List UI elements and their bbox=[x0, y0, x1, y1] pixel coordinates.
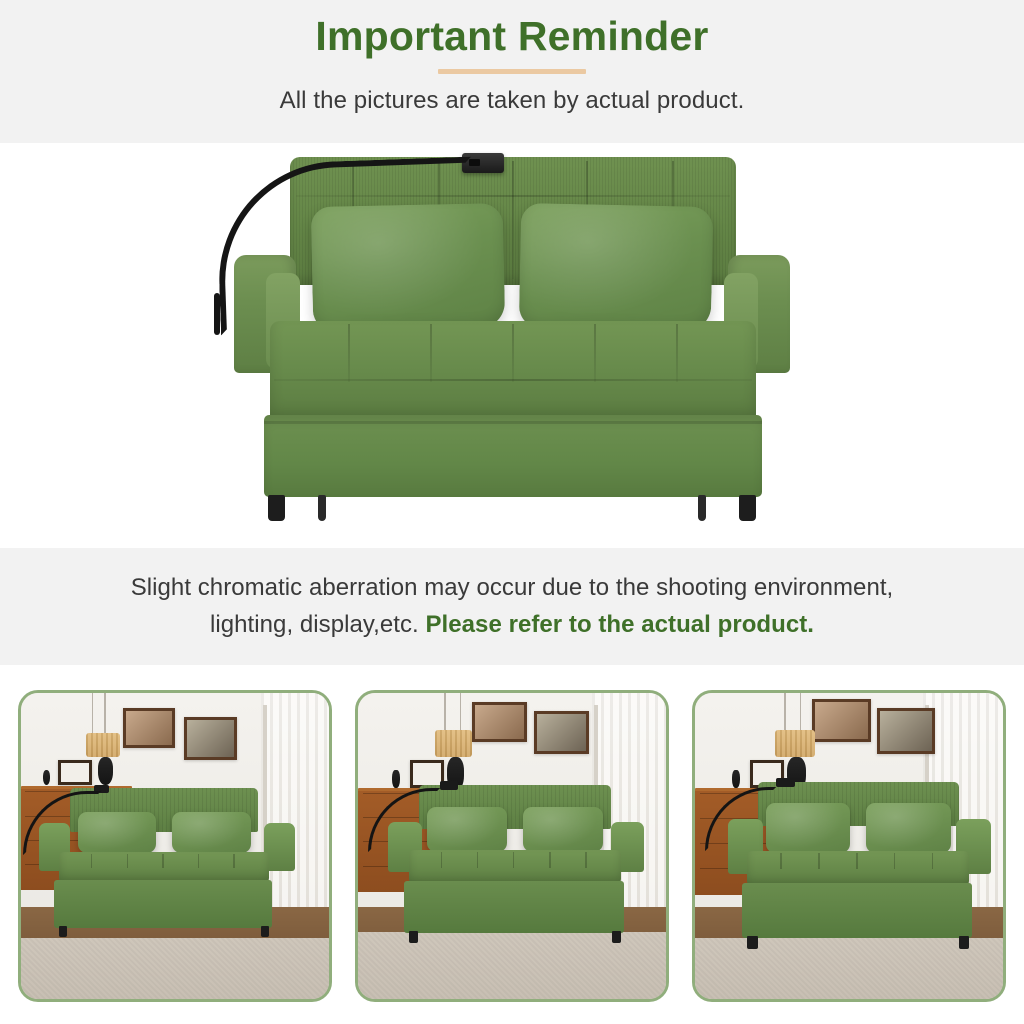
wall-art-icon bbox=[123, 708, 175, 748]
notice-band: Slight chromatic aberration may occur du… bbox=[0, 548, 1024, 665]
wall-art-icon bbox=[877, 708, 936, 754]
title-divider bbox=[438, 69, 586, 74]
header-band: Important Reminder All the pictures are … bbox=[0, 0, 1024, 143]
photo-frame-icon bbox=[58, 760, 92, 784]
hero-product-image bbox=[0, 143, 1024, 548]
page-subtitle: All the pictures are taken by actual pro… bbox=[280, 87, 745, 115]
notice-line-1: Slight chromatic aberration may occur du… bbox=[131, 570, 894, 606]
wall-art-icon bbox=[812, 699, 871, 742]
sofa-leg bbox=[318, 495, 326, 521]
wall-art-icon bbox=[534, 711, 589, 754]
sofa-pillow-left bbox=[311, 203, 506, 332]
wall-art-icon bbox=[472, 702, 527, 742]
sofa-seat-cushion bbox=[270, 321, 756, 421]
gallery-item-1[interactable] bbox=[18, 690, 332, 1002]
sofa-pullout-base bbox=[264, 415, 762, 497]
gallery-strip bbox=[0, 665, 1024, 1024]
usb-power-port-icon bbox=[440, 781, 458, 789]
gallery-item-2[interactable] bbox=[355, 690, 669, 1002]
notice-line-2-plain: lighting, display,etc. bbox=[210, 611, 419, 638]
sofa-leg bbox=[268, 495, 285, 521]
sofa-leg bbox=[698, 495, 706, 521]
wall-art-icon bbox=[184, 717, 236, 760]
sofa-pillow-right bbox=[519, 203, 714, 332]
power-cord-tail bbox=[214, 293, 220, 335]
sofa-leg bbox=[739, 495, 756, 521]
page-title: Important Reminder bbox=[315, 14, 708, 60]
sofa-illustration bbox=[212, 143, 812, 523]
lamp-shade-icon bbox=[435, 730, 472, 758]
product-infographic-page: Important Reminder All the pictures are … bbox=[0, 0, 1024, 1024]
notice-line-2-strong: Please refer to the actual product. bbox=[425, 611, 814, 638]
lamp-shade-icon bbox=[775, 730, 815, 758]
lamp-shade-icon bbox=[86, 733, 120, 757]
notice-line-2: lighting, display,etc. Please refer to t… bbox=[210, 607, 814, 643]
lamp-base-icon bbox=[98, 757, 113, 785]
gallery-item-3[interactable] bbox=[692, 690, 1006, 1002]
usb-power-port-icon bbox=[776, 778, 795, 787]
